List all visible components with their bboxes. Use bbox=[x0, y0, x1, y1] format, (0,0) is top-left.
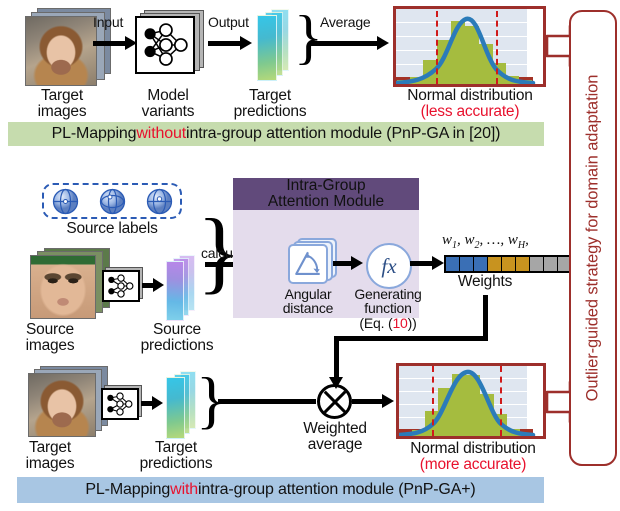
target-prediction-slab-front-bottom bbox=[166, 377, 185, 439]
banner-with-module: PL-Mapping with intra-group attention mo… bbox=[17, 477, 544, 503]
source-prediction-slab-front bbox=[166, 261, 184, 321]
distribution-caption-top: Normal distribution (less accurate) bbox=[375, 88, 565, 120]
distribution-chart-bottom bbox=[396, 363, 546, 439]
banner-text-part-3: intra-group attention module (PnP-GA+) bbox=[198, 481, 476, 499]
outlier-guided-strategy-panel: Outlier-guided strategy for domain adapt… bbox=[569, 10, 617, 466]
label-line-2: predictions bbox=[118, 456, 234, 472]
label-line-2: predictions bbox=[215, 104, 325, 120]
multiply-feed-line bbox=[334, 336, 339, 379]
average-arrow-shaft bbox=[310, 41, 379, 46]
weighted-average-output-head bbox=[382, 394, 394, 408]
weight-cell bbox=[516, 257, 530, 271]
banner-highlight: without bbox=[136, 125, 186, 143]
eq-prefix: (Eq. ( bbox=[359, 315, 392, 331]
threshold-line-left bbox=[436, 11, 438, 84]
generating-function-icon: fx bbox=[366, 243, 412, 289]
target-model-arrow-head bbox=[152, 396, 163, 410]
average-label: Average bbox=[320, 14, 371, 30]
weighted-average-multiply-node bbox=[317, 384, 352, 419]
distribution-title: Normal distribution bbox=[378, 441, 568, 457]
label-line-2: images bbox=[3, 338, 97, 354]
label-line-1: Source bbox=[3, 322, 97, 338]
banner-text-part-1: PL-Mapping bbox=[52, 125, 137, 143]
brace-top: } bbox=[294, 7, 323, 67]
weight-cell bbox=[530, 257, 544, 271]
label-line-1: Generating bbox=[342, 287, 434, 301]
average-arrow-head bbox=[377, 36, 389, 50]
gaze-sphere-icon-3 bbox=[146, 188, 173, 215]
weighted-average-output-shaft bbox=[352, 399, 384, 404]
source-labels-label: Source labels bbox=[42, 221, 182, 237]
label-line-1: Weighted bbox=[286, 421, 384, 437]
source-images-label: Source images bbox=[3, 322, 97, 354]
image-sheet-front bbox=[30, 255, 96, 319]
source-model-icon bbox=[102, 270, 140, 302]
distribution-chart-top bbox=[393, 6, 546, 87]
label-line-2: variants bbox=[126, 104, 210, 120]
target-model-icon bbox=[101, 388, 139, 420]
image-sheet-front bbox=[28, 373, 96, 437]
module-arrow-2-head bbox=[432, 256, 444, 270]
equation-reference: (Eq. (10)) bbox=[342, 316, 434, 330]
label-line-1: Source bbox=[122, 322, 232, 338]
weights-formula: w1, w2, …, wH, bbox=[442, 232, 529, 251]
target-images-label-top: Target images bbox=[12, 88, 112, 120]
chart-plot-area bbox=[396, 9, 543, 84]
module-arrow-1-shaft bbox=[333, 261, 353, 266]
chart-plot-area bbox=[399, 366, 543, 436]
distribution-title: Normal distribution bbox=[375, 88, 565, 104]
output-label: Output bbox=[208, 14, 249, 30]
attention-module-header: Intra-Group Attention Module bbox=[233, 178, 419, 210]
weights-bar bbox=[444, 255, 573, 273]
module-title-line-2: Attention Module bbox=[268, 194, 384, 210]
module-title-line-1: Intra-Group bbox=[268, 178, 384, 194]
weights-horizontal-line bbox=[334, 336, 488, 341]
output-arrow-shaft bbox=[208, 41, 242, 46]
outlier-guided-strategy-text: Outlier-guided strategy for domain adapt… bbox=[584, 75, 603, 402]
distribution-subtitle: (more accurate) bbox=[378, 457, 568, 473]
weight-cell bbox=[488, 257, 502, 271]
banner-text-part-1: PL-Mapping bbox=[85, 481, 170, 499]
source-model-arrow-head bbox=[153, 278, 164, 292]
banner-text-part-3: intra-group attention module (PnP-GA in … bbox=[186, 125, 500, 143]
eq-number: 10 bbox=[392, 315, 407, 331]
weight-cell bbox=[460, 257, 474, 271]
label-line-1: Target bbox=[118, 440, 234, 456]
threshold-line-left bbox=[432, 366, 434, 436]
input-arrow-shaft bbox=[93, 41, 127, 46]
target-predictions-label-bottom: Target predictions bbox=[118, 440, 234, 472]
target-prediction-slab-front-top bbox=[257, 15, 277, 81]
neural-network-icon bbox=[103, 390, 137, 418]
gaussian-curve bbox=[399, 366, 546, 439]
gaze-sphere-icon-1 bbox=[52, 188, 79, 215]
distribution-subtitle: (less accurate) bbox=[375, 104, 565, 120]
distribution-caption-bottom: Normal distribution (more accurate) bbox=[378, 441, 568, 473]
neural-network-icon bbox=[104, 272, 138, 300]
weights-label: Weights bbox=[430, 274, 540, 290]
weighted-average-input-line bbox=[218, 399, 316, 404]
banner-highlight: with bbox=[170, 481, 198, 499]
target-predictions-label-top: Target predictions bbox=[215, 88, 325, 120]
fx-glyph: fx bbox=[381, 254, 396, 279]
weight-cell bbox=[474, 257, 488, 271]
angular-distance-icon bbox=[288, 244, 328, 284]
gaussian-curve bbox=[396, 9, 546, 87]
label-line-2: average bbox=[286, 437, 384, 453]
neural-network-icon bbox=[137, 18, 193, 72]
label-line-2: predictions bbox=[122, 338, 232, 354]
label-line-1: Target bbox=[215, 88, 325, 104]
angle-glyph-icon bbox=[290, 246, 326, 282]
eq-suffix: )) bbox=[408, 315, 417, 331]
weight-cell bbox=[502, 257, 516, 271]
label-line-2: images bbox=[12, 104, 112, 120]
weights-down-line bbox=[483, 295, 488, 340]
module-arrow-1-head bbox=[351, 256, 363, 270]
weights-formula-text: w1, w2, …, wH, bbox=[442, 232, 529, 248]
threshold-line-right bbox=[496, 11, 498, 84]
label-line-2: images bbox=[3, 456, 97, 472]
target-images-label-bottom: Target images bbox=[3, 440, 97, 472]
module-arrow-2-shaft bbox=[410, 261, 434, 266]
threshold-line-right bbox=[500, 366, 502, 436]
input-label: Input bbox=[93, 14, 123, 30]
weight-cell bbox=[544, 257, 558, 271]
generating-function-label: Generating function (Eq. (10)) bbox=[342, 287, 434, 330]
label-line-2: function bbox=[342, 301, 434, 315]
weight-cell bbox=[446, 257, 460, 271]
label-line-1: Model bbox=[126, 88, 210, 104]
gaze-sphere-icon-2 bbox=[99, 188, 126, 215]
model-variants-label: Model variants bbox=[126, 88, 210, 120]
weighted-average-label: Weighted average bbox=[286, 421, 384, 453]
image-sheet-front bbox=[25, 16, 97, 86]
output-arrow-head bbox=[240, 36, 252, 50]
banner-without-module: PL-Mapping without intra-group attention… bbox=[8, 122, 544, 146]
source-predictions-label: Source predictions bbox=[122, 322, 232, 354]
label-line-1: Target bbox=[12, 88, 112, 104]
model-variants-icon bbox=[135, 16, 195, 74]
label-line-1: Target bbox=[3, 440, 97, 456]
